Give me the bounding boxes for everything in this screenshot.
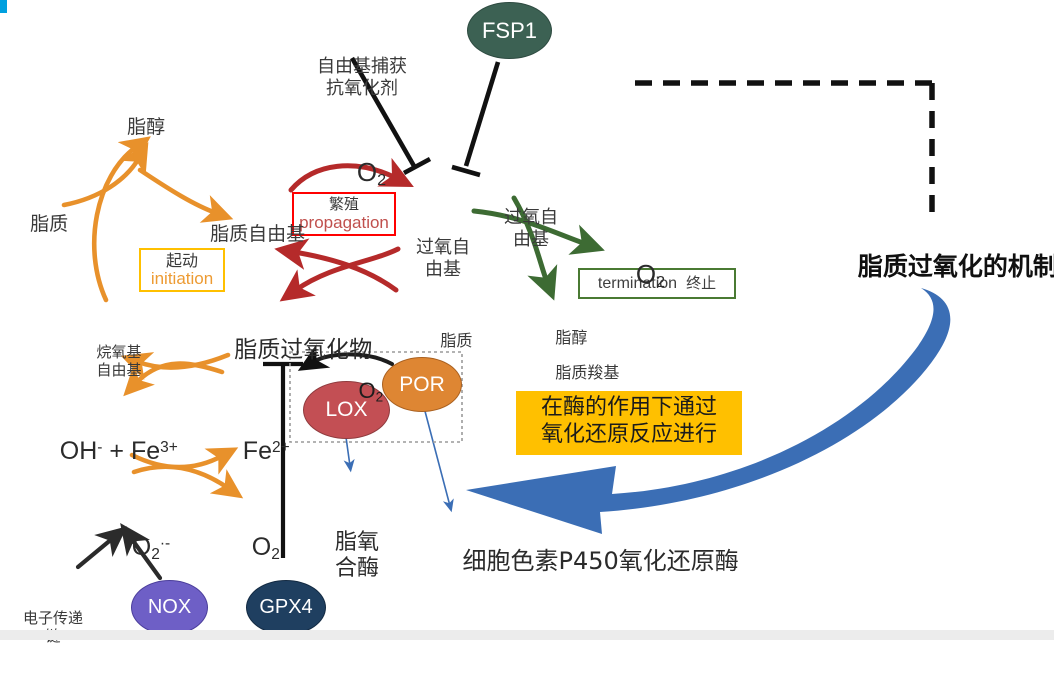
fe2-superscript: 2+ — [272, 439, 290, 456]
enzyme-node-fsp1[interactable]: FSP1 — [467, 2, 552, 59]
label-lipid-radical: 脂质自由基 — [186, 201, 305, 268]
bottom-strip — [0, 630, 1054, 640]
fe3-superscript: 3+ — [160, 439, 178, 456]
label-lipid-mid: 脂质 — [420, 313, 472, 370]
label-o2-bottom: O2 — [224, 503, 280, 593]
label-radical-trap-antioxidant: 自由基捕获 抗氧化剂 — [317, 14, 407, 141]
termination-cn: 终止 — [686, 275, 716, 292]
label-lipid-carboxyl: 脂质羧基 — [535, 345, 619, 402]
superoxide-subscript: 2 — [151, 545, 160, 562]
o2-subscript-lox: 2 — [376, 389, 384, 404]
o2-subscript-termination: 2 — [656, 273, 665, 291]
o2-subscript-propagation: 2 — [377, 171, 386, 189]
enzyme-label-gpx4: GPX4 — [259, 596, 312, 619]
label-lipid-left: 脂质 — [6, 191, 68, 258]
label-oh-fe3: OH- + Fe3+ — [32, 407, 178, 496]
label-superoxide: O2·- — [104, 503, 170, 593]
enzyme-label-nox: NOX — [148, 596, 191, 619]
label-peroxyl-radical-right: 过氧自 由基 — [504, 165, 558, 292]
initiation-en: initiation — [151, 269, 213, 288]
superoxide-superscript: ·- — [160, 535, 170, 552]
label-lipid-alcohol-top: 脂醇 — [103, 94, 165, 161]
diagram-canvas: FSP1 LOX POR NOX GPX4 起动 initiation 繁殖 p… — [0, 0, 1054, 640]
annotation-line-2: 氧化还原反应进行 — [524, 422, 734, 449]
label-o2-termination: O2 — [607, 228, 665, 322]
o2-subscript-bottom: 2 — [271, 545, 280, 562]
label-electron-transport-chain: 电子传递 链 — [23, 575, 83, 681]
label-o2-lox: O2 — [334, 352, 383, 431]
enzyme-label-fsp1: FSP1 — [482, 18, 537, 44]
label-cyp-p450-reductase: 细胞色素P450氧化还原酶 — [432, 519, 739, 604]
label-peroxyl-radical-mid: 过氧自 由基 — [416, 195, 470, 322]
page-title: 脂质过氧化的机制 — [823, 222, 1054, 311]
label-lipoxygenase: 脂氧 合酶 — [335, 478, 379, 634]
enzyme-label-por: POR — [399, 373, 445, 397]
label-alkoxy-radical: 烷氧基 自由基 — [96, 309, 141, 415]
title-dashed-connector — [635, 83, 932, 212]
label-fe2: Fe2+ — [215, 407, 290, 496]
page-title-text: 脂质过氧化的机制 — [858, 252, 1054, 281]
